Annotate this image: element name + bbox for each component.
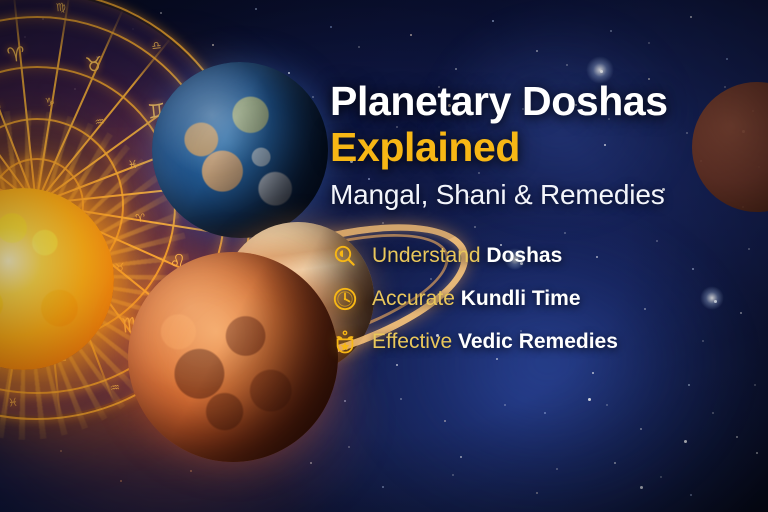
search-icon: [332, 243, 358, 269]
list-item-label: Understand Doshas: [372, 244, 562, 268]
list-item: Accurate Kundli Time: [332, 277, 742, 320]
headline-line-1: Planetary Doshas: [330, 78, 668, 124]
clock-icon: [332, 286, 358, 312]
headline-line-2: Explained: [330, 124, 520, 170]
list-item-label: Effective Vedic Remedies: [372, 330, 618, 354]
list-item-label: Accurate Kundli Time: [372, 287, 581, 311]
astrology-banner: ♈♍♐♉♎♑♊♏♒♋♐♓♌♑♈♍♒♉♎♓♊♏♈♋♐♉♌♑♊♍♒♋♎♓♌♏ Pla…: [0, 0, 768, 512]
list-item: Effective Vedic Remedies: [332, 320, 742, 363]
page-title: Planetary Doshas Explained: [330, 78, 742, 170]
text-content: Planetary Doshas Explained Mangal, Shani…: [330, 78, 742, 363]
feature-list: Understand Doshas Accurate Kundli Time: [332, 234, 742, 363]
mars-planet: [128, 252, 338, 462]
mars-terminator-shadow: [128, 252, 338, 462]
list-item: Understand Doshas: [332, 234, 742, 277]
award-badge-icon: [332, 329, 358, 355]
page-subtitle: Mangal, Shani & Remedies: [330, 178, 742, 212]
